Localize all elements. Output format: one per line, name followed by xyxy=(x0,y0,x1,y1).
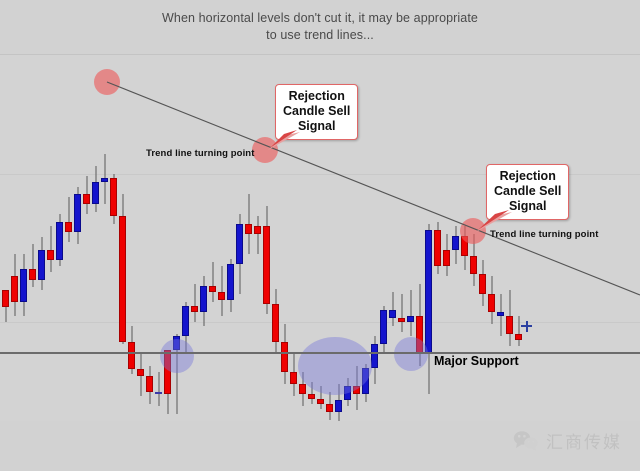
callout-text-line: Candle Sell xyxy=(283,104,350,119)
callout-text-line: Rejection xyxy=(283,89,350,104)
watermark-text: 汇商传媒 xyxy=(546,428,622,453)
wechat-icon xyxy=(513,430,539,452)
callout-text-line: Signal xyxy=(494,199,561,214)
callout-rejection-2: RejectionCandle SellSignal xyxy=(486,164,569,220)
major-support-label: Major Support xyxy=(434,354,519,368)
page-title: When horizontal levels don't cut it, it … xyxy=(0,10,640,44)
chart-screenshot: When horizontal levels don't cut it, it … xyxy=(0,0,640,471)
watermark: 汇商传媒 xyxy=(513,428,622,453)
callout-rejection-1: RejectionCandle SellSignal xyxy=(275,84,358,140)
tagline-trend-turning-2: Trend line turning point xyxy=(490,229,598,240)
callout-text-line: Signal xyxy=(283,119,350,134)
caption-line-2: to use trend lines... xyxy=(0,27,640,44)
callout-text-line: Rejection xyxy=(494,169,561,184)
tagline-trend-turning-1: Trend line turning point xyxy=(146,148,254,159)
major-support-line xyxy=(0,352,640,354)
callout-text-line: Candle Sell xyxy=(494,184,561,199)
caption-line-1: When horizontal levels don't cut it, it … xyxy=(0,10,640,27)
